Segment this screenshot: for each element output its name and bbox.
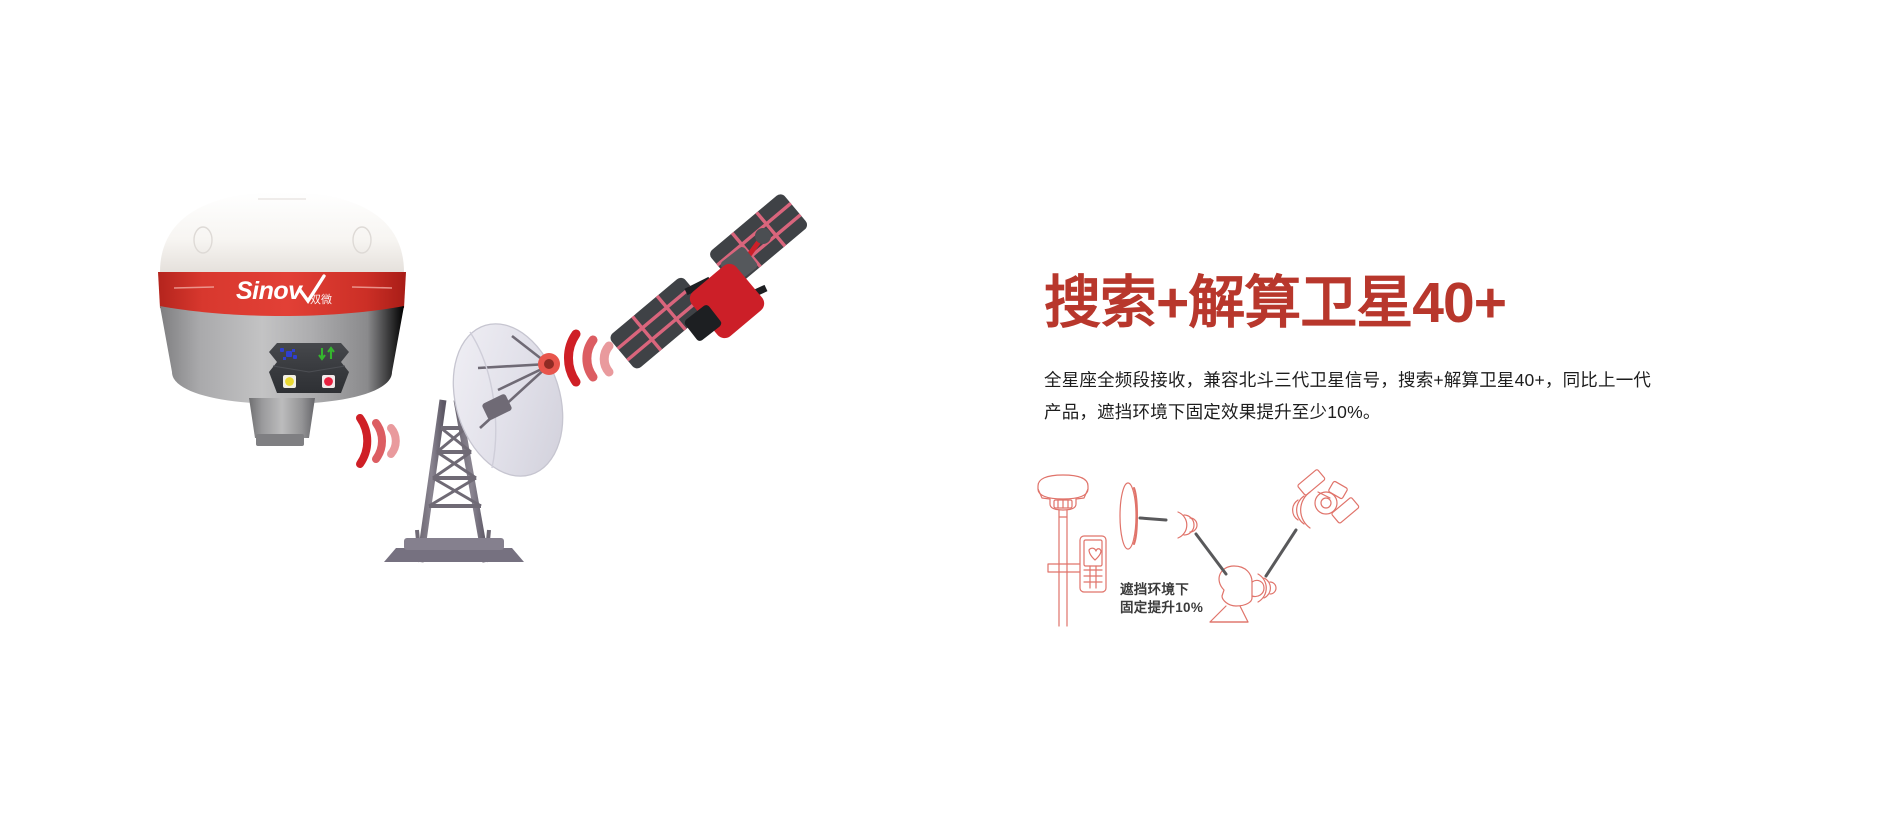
brand-logo-text: Sinov: [236, 277, 304, 305]
diagram-obstruction: [1120, 483, 1137, 549]
diagram-satellite-waves: [1293, 492, 1310, 528]
diagram-caption: 遮挡环境下 固定提升10%: [1120, 581, 1203, 617]
satellite-signal-waves: [568, 334, 609, 382]
text-content-block: 搜索+解算卫星40+ 全星座全频段接收，兼容北斗三代卫星信号，搜索+解算卫星40…: [1044, 274, 1704, 429]
band-highlight-left: [174, 287, 214, 288]
gnss-receiver-product: Sinov 双微: [158, 192, 406, 446]
page-title: 搜索+解算卫星40+: [1044, 274, 1704, 334]
hero-illustration: Sinov 双微: [0, 0, 1020, 833]
receiver-signal-waves: [360, 418, 396, 464]
diagram-connectors: [1140, 518, 1296, 576]
satellite-dish-tower: [384, 310, 581, 562]
product-feature-banner: Sinov 双微: [0, 0, 1901, 833]
power-led-icon: [283, 375, 296, 388]
caption-line-1: 遮挡环境下: [1120, 581, 1203, 599]
brand-logo-cn: 双微: [310, 292, 332, 306]
receiver-neck: [249, 398, 315, 438]
body-description: 全星座全频段接收，兼容北斗三代卫星信号，搜索+解算卫星40+，同比上一代产品，遮…: [1044, 364, 1656, 429]
diagram-satellite: [1293, 469, 1360, 528]
band-highlight-right: [352, 287, 392, 288]
caption-line-2: 固定提升10%: [1120, 599, 1203, 617]
receiver-connector: [256, 434, 304, 446]
record-led-icon: [322, 375, 335, 388]
diagram-waves-left: [1178, 512, 1197, 538]
diagram-handheld-controller: [1048, 536, 1106, 592]
dish-feed-horn: [538, 353, 560, 375]
receiver-dome: [160, 192, 404, 278]
orbiting-satellite: [608, 192, 809, 371]
